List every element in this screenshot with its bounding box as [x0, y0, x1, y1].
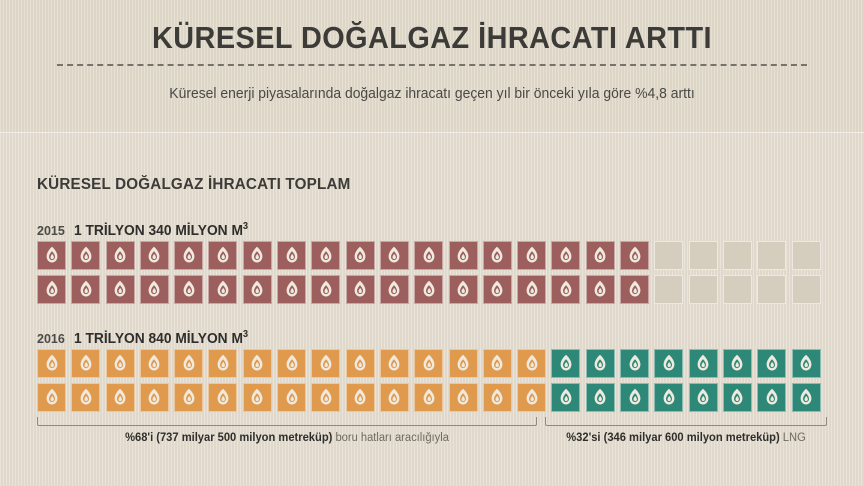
series-value-2015: 1 TRİLYON 340 MİLYON M3: [74, 221, 248, 239]
pictogram-flame-tile: [723, 275, 752, 304]
flame-icon: [421, 246, 437, 265]
pictogram-flame-tile: [414, 241, 443, 270]
pictogram-flame-tile: [551, 241, 580, 270]
flame-icon: [524, 388, 540, 407]
flame-icon: [558, 246, 574, 265]
pictogram-flame-tile: [37, 275, 66, 304]
page-subtitle: Küresel enerji piyasalarında doğalgaz ih…: [17, 86, 846, 102]
pictogram-flame-tile: [620, 241, 649, 270]
flame-icon: [592, 354, 608, 373]
series-label-2016: 20161 TRİLYON 840 MİLYON M3: [37, 329, 257, 348]
flame-icon: [352, 246, 368, 265]
flame-icon: [695, 354, 711, 373]
pictogram-flame-tile: [792, 275, 821, 304]
pictogram-flame-tile: [243, 275, 272, 304]
pictogram-flame-tile: [277, 241, 306, 270]
flame-icon: [249, 246, 265, 265]
flame-icon: [729, 388, 745, 407]
series-year-2015: 2015: [37, 224, 65, 238]
flame-icon: [558, 388, 574, 407]
pictogram-flame-tile: [106, 241, 135, 270]
pictogram-flame-tile: [654, 241, 683, 270]
pictogram-flame-tile: [792, 241, 821, 270]
flame-icon: [44, 388, 60, 407]
series-label-2015: 20151 TRİLYON 340 MİLYON M3: [37, 221, 257, 240]
flame-icon: [318, 280, 334, 299]
pictogram-flame-tile: [208, 275, 237, 304]
pictogram-flame-tile: [620, 275, 649, 304]
flame-icon: [627, 388, 643, 407]
caption-lng-bold: %32'si (346 milyar 600 milyon metreküp): [566, 432, 779, 444]
series-value-2016: 1 TRİLYON 840 MİLYON M3: [74, 329, 248, 347]
flame-icon: [146, 280, 162, 299]
pictogram-flame-tile: [517, 349, 546, 378]
flame-icon: [386, 388, 402, 407]
pictogram-flame-tile: [620, 349, 649, 378]
flame-icon: [78, 280, 94, 299]
pictogram-flame-tile: [483, 383, 512, 412]
pictogram-flame-tile: [208, 349, 237, 378]
flame-icon: [78, 388, 94, 407]
pictogram-flame-tile: [654, 383, 683, 412]
infographic-poster: KÜRESEL DOĞALGAZ İHRACATI ARTTI Küresel …: [0, 0, 864, 486]
pictogram-flame-tile: [449, 241, 478, 270]
pictogram-flame-tile: [689, 275, 718, 304]
flame-icon: [764, 388, 780, 407]
flame-icon: [455, 354, 471, 373]
pictogram-flame-tile: [346, 383, 375, 412]
pictogram-flame-tile: [380, 349, 409, 378]
pictogram-flame-tile: [792, 349, 821, 378]
flame-icon: [798, 388, 814, 407]
series-year-2016: 2016: [37, 332, 65, 346]
pictogram-flame-tile: [414, 275, 443, 304]
caption-pipeline-bold: %68'i (737 milyar 500 milyon metreküp): [125, 432, 332, 444]
pictogram-flame-tile: [346, 241, 375, 270]
flame-icon: [44, 246, 60, 265]
flame-icon: [146, 246, 162, 265]
flame-icon: [489, 280, 505, 299]
pictogram-flame-tile: [174, 275, 203, 304]
pictogram-flame-tile: [689, 383, 718, 412]
pictogram-grid-2016: [37, 349, 827, 412]
flame-icon: [249, 280, 265, 299]
pictogram-flame-tile: [37, 241, 66, 270]
pictogram-flame-tile: [174, 383, 203, 412]
flame-icon: [524, 280, 540, 299]
flame-icon: [592, 280, 608, 299]
flame-icon: [352, 388, 368, 407]
bracket-lng: [545, 417, 827, 426]
flame-icon: [352, 354, 368, 373]
pictogram-flame-tile: [311, 241, 340, 270]
flame-icon: [318, 388, 334, 407]
flame-icon: [695, 388, 711, 407]
pictogram-flame-tile: [277, 349, 306, 378]
flame-icon: [558, 280, 574, 299]
pictogram-flame-tile: [757, 349, 786, 378]
pictogram-flame-tile: [380, 383, 409, 412]
flame-icon: [181, 280, 197, 299]
flame-icon: [421, 388, 437, 407]
pictogram-flame-tile: [517, 383, 546, 412]
flame-icon: [181, 246, 197, 265]
flame-icon: [112, 388, 128, 407]
flame-icon: [249, 354, 265, 373]
flame-icon: [764, 354, 780, 373]
flame-icon: [181, 388, 197, 407]
pictogram-flame-tile: [551, 275, 580, 304]
flame-icon: [146, 388, 162, 407]
pictogram-flame-tile: [174, 241, 203, 270]
chart-body: KÜRESEL DOĞALGAZ İHRACATI TOPLAM 20151 T…: [0, 133, 864, 486]
pictogram-flame-tile: [140, 275, 169, 304]
pictogram-flame-tile: [654, 349, 683, 378]
pictogram-flame-tile: [37, 383, 66, 412]
pictogram-flame-tile: [71, 275, 100, 304]
flame-icon: [592, 246, 608, 265]
bracket-pipeline: [37, 417, 537, 426]
pictogram-flame-tile: [140, 349, 169, 378]
flame-icon: [78, 246, 94, 265]
caption-lng: %32'si (346 milyar 600 milyon metreküp) …: [549, 432, 823, 444]
pictogram-flame-tile: [757, 275, 786, 304]
pictogram-flame-tile: [449, 383, 478, 412]
pictogram-flame-tile: [311, 275, 340, 304]
pictogram-flame-tile: [517, 241, 546, 270]
pictogram-flame-tile: [243, 383, 272, 412]
pictogram-flame-tile: [483, 349, 512, 378]
section-title: KÜRESEL DOĞALGAZ İHRACATI TOPLAM: [37, 176, 350, 194]
pictogram-flame-tile: [689, 241, 718, 270]
pictogram-flame-tile: [586, 383, 615, 412]
pictogram-flame-tile: [71, 241, 100, 270]
pictogram-flame-tile: [586, 275, 615, 304]
flame-icon: [112, 280, 128, 299]
flame-icon: [284, 388, 300, 407]
pictogram-flame-tile: [106, 383, 135, 412]
pictogram-flame-tile: [449, 275, 478, 304]
flame-icon: [78, 354, 94, 373]
pictogram-flame-tile: [380, 275, 409, 304]
pictogram-flame-tile: [380, 241, 409, 270]
pictogram-flame-tile: [140, 241, 169, 270]
flame-icon: [455, 388, 471, 407]
flame-icon: [421, 280, 437, 299]
pictogram-flame-tile: [483, 241, 512, 270]
flame-icon: [44, 280, 60, 299]
caption-pipeline: %68'i (737 milyar 500 milyon metreküp) b…: [45, 432, 530, 444]
pictogram-flame-tile: [277, 275, 306, 304]
flame-icon: [112, 354, 128, 373]
pictogram-flame-tile: [346, 275, 375, 304]
flame-icon: [215, 388, 231, 407]
flame-icon: [592, 388, 608, 407]
flame-icon: [386, 354, 402, 373]
pictogram-flame-tile: [414, 383, 443, 412]
pictogram-flame-tile: [551, 383, 580, 412]
flame-icon: [284, 246, 300, 265]
flame-icon: [524, 354, 540, 373]
pictogram-flame-tile: [551, 349, 580, 378]
flame-icon: [352, 280, 368, 299]
pictogram-flame-tile: [311, 349, 340, 378]
pictogram-flame-tile: [174, 349, 203, 378]
pictogram-grid-2015: [37, 241, 827, 304]
title-divider: [57, 64, 807, 66]
flame-icon: [284, 354, 300, 373]
pictogram-flame-tile: [414, 349, 443, 378]
pictogram-flame-tile: [208, 383, 237, 412]
pictogram-flame-tile: [346, 349, 375, 378]
pictogram-flame-tile: [311, 383, 340, 412]
flame-icon: [421, 354, 437, 373]
flame-icon: [318, 246, 334, 265]
pictogram-flame-tile: [757, 383, 786, 412]
flame-icon: [318, 354, 334, 373]
flame-icon: [489, 246, 505, 265]
flame-icon: [558, 354, 574, 373]
pictogram-flame-tile: [723, 241, 752, 270]
flame-icon: [661, 354, 677, 373]
flame-icon: [215, 354, 231, 373]
caption-pipeline-rest: boru hatları aracılığıyla: [332, 432, 449, 444]
pictogram-flame-tile: [483, 275, 512, 304]
flame-icon: [386, 280, 402, 299]
flame-icon: [798, 354, 814, 373]
flame-icon: [112, 246, 128, 265]
flame-icon: [215, 280, 231, 299]
caption-lng-rest: LNG: [780, 432, 806, 444]
flame-icon: [44, 354, 60, 373]
pictogram-flame-tile: [243, 349, 272, 378]
pictogram-flame-tile: [243, 241, 272, 270]
flame-icon: [489, 354, 505, 373]
flame-icon: [215, 246, 231, 265]
pictogram-flame-tile: [586, 349, 615, 378]
flame-icon: [284, 280, 300, 299]
page-title: KÜRESEL DOĞALGAZ İHRACATI ARTTI: [30, 20, 834, 56]
flame-icon: [249, 388, 265, 407]
flame-icon: [627, 354, 643, 373]
pictogram-flame-tile: [723, 349, 752, 378]
pictogram-flame-tile: [449, 349, 478, 378]
pictogram-flame-tile: [277, 383, 306, 412]
pictogram-flame-tile: [792, 383, 821, 412]
flame-icon: [627, 246, 643, 265]
pictogram-flame-tile: [71, 349, 100, 378]
pictogram-flame-tile: [517, 275, 546, 304]
flame-icon: [455, 280, 471, 299]
pictogram-flame-tile: [620, 383, 649, 412]
flame-icon: [661, 388, 677, 407]
flame-icon: [729, 354, 745, 373]
flame-icon: [489, 388, 505, 407]
pictogram-flame-tile: [140, 383, 169, 412]
flame-icon: [455, 246, 471, 265]
flame-icon: [181, 354, 197, 373]
pictogram-flame-tile: [723, 383, 752, 412]
header-band: KÜRESEL DOĞALGAZ İHRACATI ARTTI Küresel …: [0, 0, 864, 133]
pictogram-flame-tile: [757, 241, 786, 270]
pictogram-flame-tile: [689, 349, 718, 378]
flame-icon: [146, 354, 162, 373]
pictogram-flame-tile: [208, 241, 237, 270]
pictogram-flame-tile: [654, 275, 683, 304]
pictogram-flame-tile: [586, 241, 615, 270]
pictogram-flame-tile: [106, 349, 135, 378]
pictogram-flame-tile: [106, 275, 135, 304]
flame-icon: [386, 246, 402, 265]
pictogram-flame-tile: [37, 349, 66, 378]
flame-icon: [524, 246, 540, 265]
pictogram-flame-tile: [71, 383, 100, 412]
flame-icon: [627, 280, 643, 299]
